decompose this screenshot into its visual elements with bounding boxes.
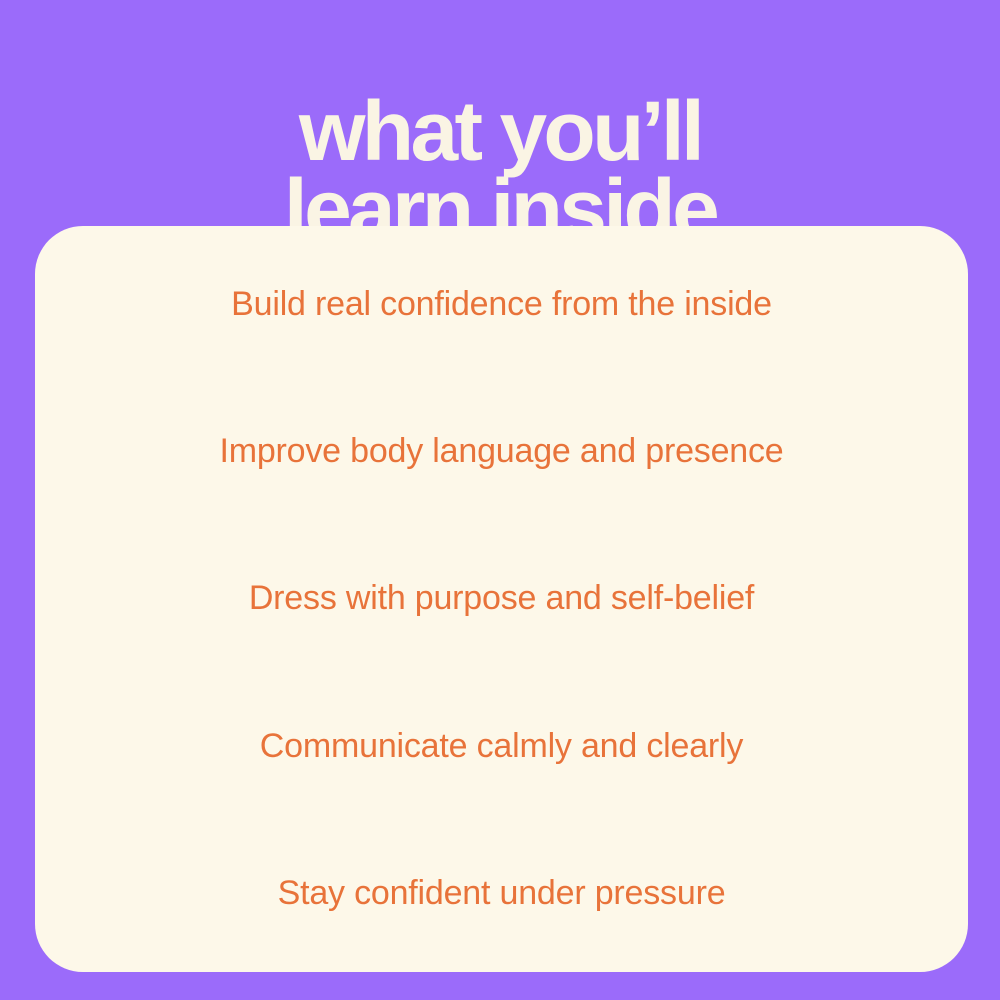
list-item: Build real confidence from the inside [35, 285, 968, 324]
list-item: Stay confident under pressure [35, 874, 968, 913]
poster-canvas: what you’ll learn inside Build real conf… [0, 0, 1000, 1000]
benefits-card: Build real confidence from the inside Im… [35, 226, 968, 972]
page-title-line-1: what you’ll [0, 92, 1000, 170]
list-item: Communicate calmly and clearly [35, 727, 968, 766]
list-item: Dress with purpose and self-belief [35, 579, 968, 618]
list-item: Improve body language and presence [35, 432, 968, 471]
benefits-list: Build real confidence from the inside Im… [35, 226, 968, 972]
